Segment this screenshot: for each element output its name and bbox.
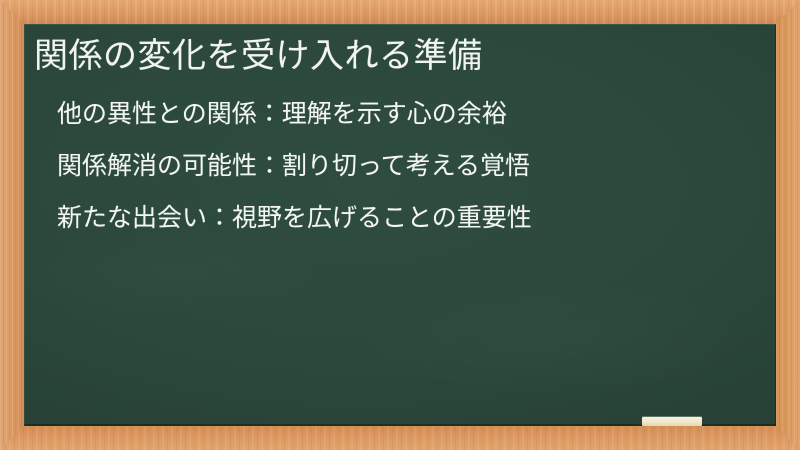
bullet-item: 新たな出会い：視野を広げることの重要性: [57, 206, 766, 231]
frame-rail-right: [776, 0, 800, 450]
chalkboard-surface: 関係の変化を受け入れる準備 他の異性との関係：理解を示す心の余裕 関係解消の可能…: [24, 24, 776, 426]
bullet-item: 関係解消の可能性：割り切って考える覚悟: [57, 154, 766, 179]
frame-rail-bottom: [0, 426, 800, 450]
bullet-item: 他の異性との関係：理解を示す心の余裕: [57, 102, 766, 127]
bullet-list: 他の異性との関係：理解を示す心の余裕 関係解消の可能性：割り切って考える覚悟 新…: [57, 102, 766, 231]
frame-rail-top: [0, 0, 800, 24]
chalk-stick-icon: [642, 417, 702, 426]
chalkboard-content-area: 関係の変化を受け入れる準備 他の異性との関係：理解を示す心の余裕 関係解消の可能…: [24, 24, 776, 426]
slide-canvas: 関係の変化を受け入れる準備 他の異性との関係：理解を示す心の余裕 関係解消の可能…: [0, 0, 800, 450]
slide-title: 関係の変化を受け入れる準備: [34, 36, 483, 76]
frame-rail-left: [0, 0, 24, 450]
